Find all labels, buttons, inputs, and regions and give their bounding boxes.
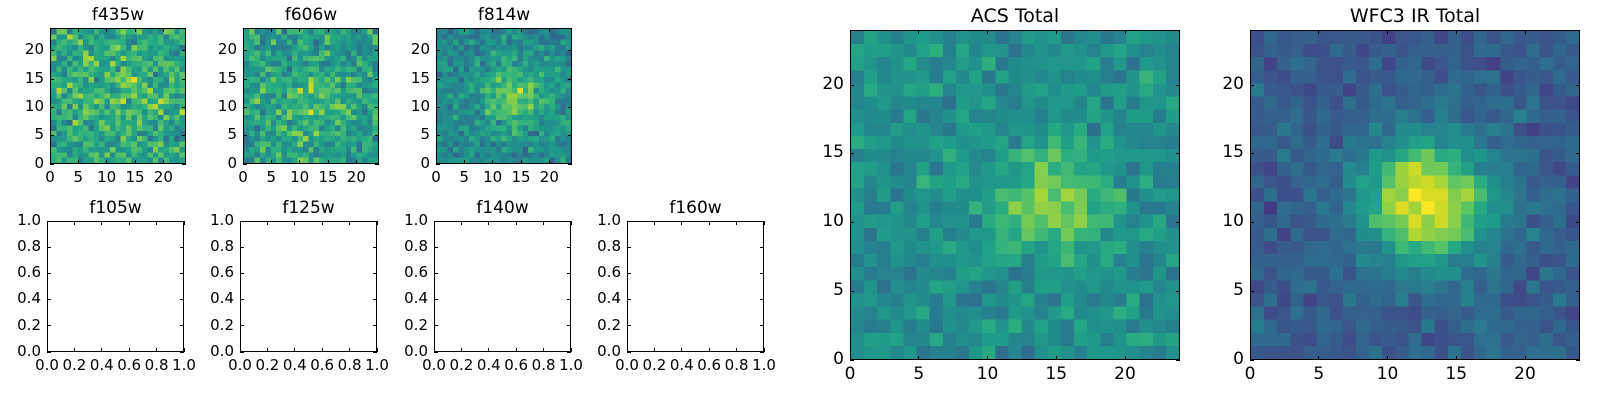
xticklabel-f140w-2: 0.4: [449, 358, 529, 373]
xticklabel-f105w-2: 0.4: [62, 358, 142, 373]
panel-f140w: f140w0.00.20.40.60.81.00.00.20.40.60.81.…: [0, 0, 1600, 400]
xticklabel-f606w-4: 20: [316, 170, 396, 185]
yticklabel-f140w-3: 0.6: [348, 265, 428, 280]
yticklabel-f105w-1: 0.2: [0, 318, 41, 333]
ytick-f105w-3: [47, 273, 51, 274]
xticklabel-f105w-1: 0.2: [34, 358, 114, 373]
yticklabel-f125w-4: 0.8: [154, 239, 234, 254]
xtick-f435w-3: [135, 160, 136, 164]
xtick-f125w-0: [240, 348, 241, 352]
ytick-right-acs-total-0: [1176, 360, 1180, 361]
yticklabel-wfc3-ir-total-1: 5: [1164, 282, 1244, 299]
yticklabel-f435w-0: 0: [0, 156, 44, 171]
panel-wfc3-ir-total: WFC3 IR Total0510152005101520: [0, 0, 1600, 400]
ytick-acs-total-1: [850, 291, 854, 292]
ytick-f125w-2: [240, 299, 244, 300]
yticklabel-acs-total-1: 5: [764, 282, 844, 299]
yticklabel-f435w-1: 5: [0, 127, 44, 142]
ytick-right-f814w-4: [568, 50, 572, 51]
ytick-f160w-3: [627, 273, 631, 274]
yticklabel-f160w-2: 0.4: [541, 291, 621, 306]
xtick-f435w-2: [106, 160, 107, 164]
xtick-top-f606w-3: [328, 28, 329, 32]
ytick-right-wfc3-ir-total-0: [1576, 360, 1580, 361]
axes-wfc3-ir-total: [1250, 30, 1580, 360]
ytick-f814w-2: [436, 107, 440, 108]
xticklabel-f160w-0: 0.0: [587, 358, 667, 373]
ytick-right-f160w-0: [760, 352, 764, 353]
xtick-f105w-3: [129, 348, 130, 352]
xtick-f105w-5: [184, 348, 185, 352]
heatmap-f435w: [51, 29, 185, 163]
yticklabel-f606w-3: 15: [157, 71, 237, 86]
xtick-top-f435w-3: [135, 28, 136, 32]
ytick-right-f606w-3: [375, 79, 379, 80]
xticklabel-acs-total-0: 0: [810, 366, 890, 383]
xticklabel-f140w-1: 0.2: [421, 358, 501, 373]
ytick-right-wfc3-ir-total-4: [1576, 85, 1580, 86]
yticklabel-f160w-0: 0.0: [541, 344, 621, 359]
yticklabel-f160w-4: 0.8: [541, 239, 621, 254]
xtick-top-f160w-3: [709, 221, 710, 225]
xticklabel-f105w-4: 0.8: [117, 358, 197, 373]
xtick-f606w-3: [328, 160, 329, 164]
xtick-f160w-2: [681, 348, 682, 352]
ytick-right-f435w-2: [182, 107, 186, 108]
xticklabel-f435w-0: 0: [10, 170, 90, 185]
xtick-f814w-3: [521, 160, 522, 164]
xtick-f125w-4: [349, 348, 350, 352]
ytick-right-f435w-3: [182, 79, 186, 80]
panel-title-f105w: f105w: [47, 198, 184, 218]
ytick-f435w-4: [50, 50, 54, 51]
ytick-right-f125w-3: [373, 273, 377, 274]
ytick-wfc3-ir-total-3: [1250, 153, 1254, 154]
ytick-f814w-0: [436, 164, 440, 165]
yticklabel-f125w-0: 0.0: [154, 344, 234, 359]
yticklabel-f105w-3: 0.6: [0, 265, 41, 280]
ytick-right-f160w-5: [760, 221, 764, 222]
xtick-f105w-0: [47, 348, 48, 352]
xticklabel-f125w-5: 1.0: [337, 358, 417, 373]
ytick-f814w-4: [436, 50, 440, 51]
ytick-right-f125w-2: [373, 299, 377, 300]
ytick-f125w-1: [240, 325, 244, 326]
ytick-right-f435w-1: [182, 135, 186, 136]
xticklabel-wfc3-ir-total-2: 10: [1348, 366, 1428, 383]
ytick-right-f105w-0: [180, 352, 184, 353]
xtick-top-f435w-0: [50, 28, 51, 32]
ytick-right-f814w-0: [568, 164, 572, 165]
yticklabel-acs-total-2: 10: [764, 213, 844, 230]
ytick-f435w-2: [50, 107, 54, 108]
ytick-right-f814w-1: [568, 135, 572, 136]
ytick-f140w-0: [434, 352, 438, 353]
ytick-right-f105w-2: [180, 299, 184, 300]
yticklabel-f160w-5: 1.0: [541, 213, 621, 228]
xtick-top-f105w-2: [101, 221, 102, 225]
ytick-f606w-1: [243, 135, 247, 136]
xtick-top-f140w-1: [461, 221, 462, 225]
xticklabel-f160w-2: 0.4: [642, 358, 722, 373]
yticklabel-f606w-4: 20: [157, 42, 237, 57]
panel-title-f125w: f125w: [240, 198, 377, 218]
xtick-top-f160w-1: [654, 221, 655, 225]
xtick-top-wfc3-ir-total-1: [1318, 30, 1319, 34]
xticklabel-f435w-4: 20: [123, 170, 203, 185]
xtick-f125w-2: [294, 348, 295, 352]
ytick-f105w-4: [47, 247, 51, 248]
xticklabel-acs-total-1: 5: [879, 366, 959, 383]
xtick-f606w-2: [299, 160, 300, 164]
xtick-top-f105w-1: [74, 221, 75, 225]
ytick-f606w-2: [243, 107, 247, 108]
ytick-f105w-1: [47, 325, 51, 326]
ytick-right-wfc3-ir-total-1: [1576, 291, 1580, 292]
yticklabel-wfc3-ir-total-4: 20: [1164, 76, 1244, 93]
ytick-f105w-2: [47, 299, 51, 300]
ytick-right-acs-total-2: [1176, 222, 1180, 223]
xticklabel-f160w-1: 0.2: [614, 358, 694, 373]
xticklabel-f814w-1: 5: [424, 170, 504, 185]
ytick-acs-total-4: [850, 85, 854, 86]
xtick-top-f160w-4: [736, 221, 737, 225]
xtick-top-wfc3-ir-total-4: [1525, 30, 1526, 34]
yticklabel-f125w-5: 1.0: [154, 213, 234, 228]
xticklabel-f435w-3: 15: [95, 170, 175, 185]
ytick-right-acs-total-1: [1176, 291, 1180, 292]
axes-f160w: [627, 221, 764, 352]
yticklabel-f435w-2: 10: [0, 99, 44, 114]
xticklabel-f125w-3: 0.6: [282, 358, 362, 373]
xtick-f140w-5: [571, 348, 572, 352]
xtick-f160w-1: [654, 348, 655, 352]
xticklabel-wfc3-ir-total-4: 20: [1485, 366, 1565, 383]
xtick-top-f606w-4: [356, 28, 357, 32]
ytick-acs-total-3: [850, 153, 854, 154]
xtick-f435w-1: [78, 160, 79, 164]
ytick-right-f125w-0: [373, 352, 377, 353]
yticklabel-acs-total-3: 15: [764, 144, 844, 161]
heatmap-f606w: [244, 29, 378, 163]
ytick-f606w-3: [243, 79, 247, 80]
ytick-f125w-4: [240, 247, 244, 248]
xtick-f160w-5: [764, 348, 765, 352]
xtick-top-f105w-3: [129, 221, 130, 225]
ytick-f105w-5: [47, 221, 51, 222]
ytick-f160w-5: [627, 221, 631, 222]
xticklabel-f125w-4: 0.8: [310, 358, 390, 373]
yticklabel-f125w-3: 0.6: [154, 265, 234, 280]
xtick-top-f606w-0: [243, 28, 244, 32]
panel-f105w: f105w0.00.20.40.60.81.00.00.20.40.60.81.…: [0, 0, 1600, 400]
xtick-top-f435w-2: [106, 28, 107, 32]
heatmap-f814w: [437, 29, 571, 163]
xtick-top-acs-total-1: [918, 30, 919, 34]
yticklabel-wfc3-ir-total-3: 15: [1164, 144, 1244, 161]
xtick-top-f814w-0: [436, 28, 437, 32]
xtick-acs-total-1: [918, 356, 919, 360]
xticklabel-f140w-0: 0.0: [394, 358, 474, 373]
xtick-top-wfc3-ir-total-2: [1387, 30, 1388, 34]
xtick-f814w-1: [464, 160, 465, 164]
xtick-f140w-1: [461, 348, 462, 352]
xticklabel-acs-total-3: 15: [1016, 366, 1096, 383]
xtick-wfc3-ir-total-2: [1387, 356, 1388, 360]
yticklabel-f160w-3: 0.6: [541, 265, 621, 280]
xtick-f125w-5: [377, 348, 378, 352]
xtick-f435w-0: [50, 160, 51, 164]
axes-f105w: [47, 221, 184, 352]
xtick-wfc3-ir-total-1: [1318, 356, 1319, 360]
ytick-right-f606w-0: [375, 164, 379, 165]
xtick-f160w-0: [627, 348, 628, 352]
ytick-right-f606w-1: [375, 135, 379, 136]
xtick-top-f160w-5: [764, 221, 765, 225]
panel-f435w: f435w0510152005101520: [0, 0, 1600, 400]
xticklabel-f814w-0: 0: [396, 170, 476, 185]
xtick-f606w-0: [243, 160, 244, 164]
xtick-f140w-4: [543, 348, 544, 352]
xtick-top-f140w-4: [543, 221, 544, 225]
xtick-top-f435w-1: [78, 28, 79, 32]
yticklabel-f814w-0: 0: [350, 156, 430, 171]
xtick-top-f125w-1: [267, 221, 268, 225]
ytick-right-f160w-4: [760, 247, 764, 248]
xtick-acs-total-0: [850, 356, 851, 360]
ytick-right-f160w-2: [760, 299, 764, 300]
panel-title-wfc3-ir-total: WFC3 IR Total: [1250, 5, 1580, 27]
xticklabel-f160w-5: 1.0: [724, 358, 804, 373]
xtick-f814w-4: [549, 160, 550, 164]
yticklabel-wfc3-ir-total-2: 10: [1164, 213, 1244, 230]
ytick-acs-total-2: [850, 222, 854, 223]
ytick-right-f125w-5: [373, 221, 377, 222]
ytick-right-f160w-3: [760, 273, 764, 274]
ytick-f125w-0: [240, 352, 244, 353]
ytick-right-f140w-5: [567, 221, 571, 222]
xtick-acs-total-4: [1125, 356, 1126, 360]
yticklabel-f105w-0: 0.0: [0, 344, 41, 359]
ytick-right-f105w-1: [180, 325, 184, 326]
yticklabel-f814w-3: 15: [350, 71, 430, 86]
xtick-top-acs-total-0: [850, 30, 851, 34]
ytick-f814w-1: [436, 135, 440, 136]
yticklabel-f814w-1: 5: [350, 127, 430, 142]
ytick-wfc3-ir-total-0: [1250, 360, 1254, 361]
xtick-top-f140w-3: [516, 221, 517, 225]
xticklabel-f606w-1: 5: [231, 170, 311, 185]
xtick-top-wfc3-ir-total-0: [1250, 30, 1251, 34]
xtick-top-f125w-4: [349, 221, 350, 225]
ytick-f140w-4: [434, 247, 438, 248]
panel-title-acs-total: ACS Total: [850, 5, 1180, 27]
xticklabel-wfc3-ir-total-0: 0: [1210, 366, 1290, 383]
xtick-f140w-0: [434, 348, 435, 352]
ytick-right-f105w-3: [180, 273, 184, 274]
ytick-right-f814w-2: [568, 107, 572, 108]
panel-f814w: f814w0510152005101520: [0, 0, 1600, 400]
xtick-f105w-4: [156, 348, 157, 352]
panel-title-f160w: f160w: [627, 198, 764, 218]
xticklabel-f160w-3: 0.6: [669, 358, 749, 373]
xticklabel-f435w-1: 5: [38, 170, 118, 185]
ytick-acs-total-0: [850, 360, 854, 361]
ytick-f140w-2: [434, 299, 438, 300]
ytick-f125w-3: [240, 273, 244, 274]
ytick-f160w-1: [627, 325, 631, 326]
xtick-top-f140w-2: [488, 221, 489, 225]
xticklabel-f606w-2: 10: [260, 170, 340, 185]
yticklabel-f125w-1: 0.2: [154, 318, 234, 333]
ytick-f606w-4: [243, 50, 247, 51]
ytick-right-acs-total-3: [1176, 153, 1180, 154]
yticklabel-f140w-1: 0.2: [348, 318, 428, 333]
xticklabel-f140w-5: 1.0: [531, 358, 611, 373]
yticklabel-f140w-2: 0.4: [348, 291, 428, 306]
xtick-top-f125w-2: [294, 221, 295, 225]
xtick-f105w-2: [101, 348, 102, 352]
xtick-f105w-1: [74, 348, 75, 352]
panel-acs-total: ACS Total0510152005101520: [0, 0, 1600, 400]
xtick-wfc3-ir-total-4: [1525, 356, 1526, 360]
ytick-right-f105w-4: [180, 247, 184, 248]
ytick-right-f435w-4: [182, 50, 186, 51]
ytick-right-wfc3-ir-total-2: [1576, 222, 1580, 223]
ytick-right-f140w-0: [567, 352, 571, 353]
yticklabel-wfc3-ir-total-0: 0: [1164, 351, 1244, 368]
xtick-f125w-1: [267, 348, 268, 352]
xtick-top-f125w-3: [322, 221, 323, 225]
yticklabel-f606w-0: 0: [157, 156, 237, 171]
xtick-top-f125w-5: [377, 221, 378, 225]
ytick-f140w-3: [434, 273, 438, 274]
ytick-f140w-1: [434, 325, 438, 326]
xtick-top-f105w-4: [156, 221, 157, 225]
yticklabel-f140w-5: 1.0: [348, 213, 428, 228]
ytick-f606w-0: [243, 164, 247, 165]
ytick-right-f105w-5: [180, 221, 184, 222]
yticklabel-f435w-3: 15: [0, 71, 44, 86]
xtick-f606w-4: [356, 160, 357, 164]
axes-f435w: [50, 28, 186, 164]
xticklabel-f140w-3: 0.6: [476, 358, 556, 373]
xtick-top-f105w-0: [47, 221, 48, 225]
xtick-top-f140w-5: [571, 221, 572, 225]
xticklabel-f125w-2: 0.4: [255, 358, 335, 373]
xtick-f140w-2: [488, 348, 489, 352]
ytick-right-f140w-4: [567, 247, 571, 248]
xtick-f814w-2: [492, 160, 493, 164]
xticklabel-acs-total-2: 10: [948, 366, 1028, 383]
xtick-top-f160w-2: [681, 221, 682, 225]
yticklabel-f606w-1: 5: [157, 127, 237, 142]
xticklabel-f160w-4: 0.8: [697, 358, 777, 373]
xticklabel-f105w-5: 1.0: [144, 358, 224, 373]
ytick-f435w-3: [50, 79, 54, 80]
xtick-f160w-4: [736, 348, 737, 352]
xtick-top-f814w-2: [492, 28, 493, 32]
panel-f160w: f160w0.00.20.40.60.81.00.00.20.40.60.81.…: [0, 0, 1600, 400]
yticklabel-f814w-4: 20: [350, 42, 430, 57]
ytick-f160w-2: [627, 299, 631, 300]
ytick-right-wfc3-ir-total-3: [1576, 153, 1580, 154]
xtick-top-f435w-4: [163, 28, 164, 32]
xticklabel-acs-total-4: 20: [1085, 366, 1165, 383]
xticklabel-f814w-2: 10: [453, 170, 533, 185]
xtick-f125w-3: [322, 348, 323, 352]
heatmap-acs-total: [851, 31, 1179, 359]
ytick-right-f140w-2: [567, 299, 571, 300]
xticklabel-f606w-3: 15: [288, 170, 368, 185]
xtick-top-acs-total-4: [1125, 30, 1126, 34]
ytick-right-f125w-1: [373, 325, 377, 326]
xtick-top-acs-total-2: [987, 30, 988, 34]
yticklabel-f814w-2: 10: [350, 99, 430, 114]
yticklabel-f105w-2: 0.4: [0, 291, 41, 306]
ytick-f160w-0: [627, 352, 631, 353]
xtick-f814w-0: [436, 160, 437, 164]
xtick-top-f606w-2: [299, 28, 300, 32]
xticklabel-f125w-0: 0.0: [200, 358, 280, 373]
ytick-f105w-0: [47, 352, 51, 353]
ytick-right-acs-total-4: [1176, 85, 1180, 86]
xtick-wfc3-ir-total-0: [1250, 356, 1251, 360]
axes-f814w: [436, 28, 572, 164]
axes-acs-total: [850, 30, 1180, 360]
ytick-f814w-3: [436, 79, 440, 80]
xtick-wfc3-ir-total-3: [1456, 356, 1457, 360]
panel-title-f814w: f814w: [436, 5, 572, 25]
xtick-acs-total-2: [987, 356, 988, 360]
ytick-right-f435w-0: [182, 164, 186, 165]
yticklabel-f140w-0: 0.0: [348, 344, 428, 359]
axes-f125w: [240, 221, 377, 352]
ytick-right-f125w-4: [373, 247, 377, 248]
xtick-top-f606w-1: [271, 28, 272, 32]
yticklabel-f105w-5: 1.0: [0, 213, 41, 228]
ytick-right-f606w-2: [375, 107, 379, 108]
ytick-right-f606w-4: [375, 50, 379, 51]
xticklabel-f435w-2: 10: [67, 170, 147, 185]
ytick-wfc3-ir-total-4: [1250, 85, 1254, 86]
yticklabel-f140w-4: 0.8: [348, 239, 428, 254]
xtick-top-f140w-0: [434, 221, 435, 225]
yticklabel-f435w-4: 20: [0, 42, 44, 57]
yticklabel-f160w-1: 0.2: [541, 318, 621, 333]
xtick-f435w-4: [163, 160, 164, 164]
xtick-top-f105w-5: [184, 221, 185, 225]
yticklabel-f125w-2: 0.4: [154, 291, 234, 306]
panel-f606w: f606w0510152005101520: [0, 0, 1600, 400]
xticklabel-wfc3-ir-total-3: 15: [1416, 366, 1496, 383]
ytick-f160w-4: [627, 247, 631, 248]
ytick-f140w-5: [434, 221, 438, 222]
ytick-right-f140w-3: [567, 273, 571, 274]
xticklabel-f125w-1: 0.2: [227, 358, 307, 373]
ytick-right-f814w-3: [568, 79, 572, 80]
xtick-top-f814w-4: [549, 28, 550, 32]
axes-f606w: [243, 28, 379, 164]
yticklabel-acs-total-4: 20: [764, 76, 844, 93]
xtick-top-f160w-0: [627, 221, 628, 225]
xticklabel-f814w-4: 20: [509, 170, 589, 185]
panel-f125w: f125w0.00.20.40.60.81.00.00.20.40.60.81.…: [0, 0, 1600, 400]
xtick-top-f814w-3: [521, 28, 522, 32]
xticklabel-f606w-0: 0: [203, 170, 283, 185]
xtick-top-f814w-1: [464, 28, 465, 32]
xtick-f140w-3: [516, 348, 517, 352]
